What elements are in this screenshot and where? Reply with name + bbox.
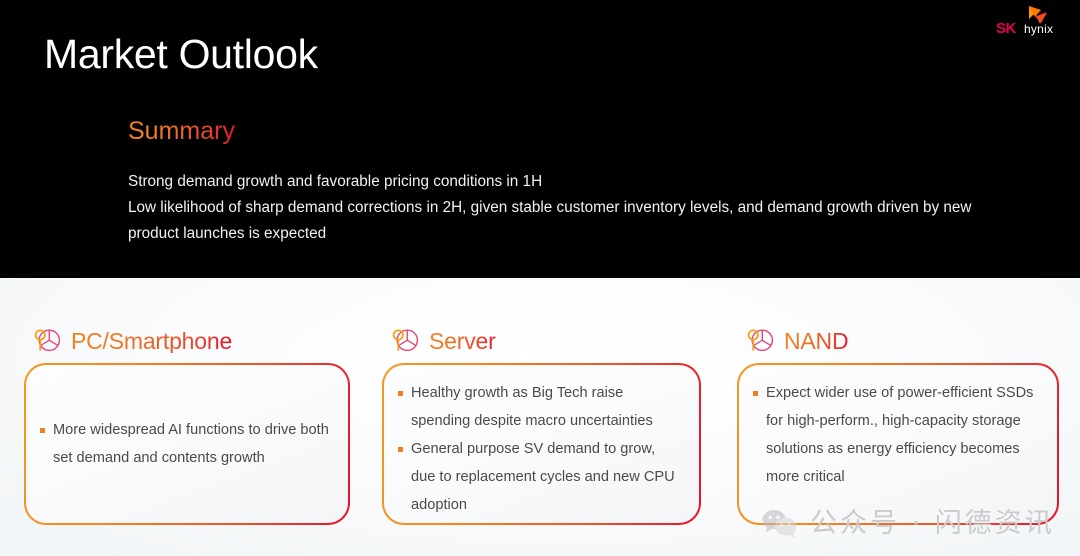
card-body-box: More widespread AI functions to drive bo… <box>24 363 350 525</box>
summary-line-2: Low likelihood of sharp demand correctio… <box>128 195 1008 247</box>
list-item: General purpose SV demand to grow, due t… <box>398 435 683 519</box>
sk-hynix-logo: SK hynix <box>994 4 1066 38</box>
slide: SK hynix Market Outlook Summary Strong d… <box>0 0 1080 556</box>
card-body: Healthy growth as Big Tech raise spendin… <box>384 365 699 523</box>
card-header: Server <box>390 324 496 358</box>
hero-band: SK hynix Market Outlook Summary Strong d… <box>0 0 1080 278</box>
bullet-list: More widespread AI functions to drive bo… <box>40 416 332 472</box>
list-item: Expect wider use of power-efficient SSDs… <box>753 379 1041 491</box>
summary-body: Strong demand growth and favorable prici… <box>128 169 1008 247</box>
card-header: NAND <box>745 324 848 358</box>
card-title: PC/Smartphone <box>71 330 232 353</box>
card-body: Expect wider use of power-efficient SSDs… <box>739 365 1057 523</box>
card-title: NAND <box>784 330 848 353</box>
svg-text:hynix: hynix <box>1024 22 1053 36</box>
summary-heading: Summary <box>128 117 235 146</box>
card-title: Server <box>429 330 496 353</box>
magnifier-pie-chart-icon <box>745 326 775 356</box>
magnifier-pie-chart-icon <box>32 326 62 356</box>
card-body-box: Healthy growth as Big Tech raise spendin… <box>382 363 701 525</box>
lower-band: PC/Smartphone More widespread AI functio… <box>0 278 1080 556</box>
card-header: PC/Smartphone <box>32 324 232 358</box>
card-body: More widespread AI functions to drive bo… <box>26 365 348 523</box>
bullet-list: Healthy growth as Big Tech raise spendin… <box>398 379 683 519</box>
svg-text:SK: SK <box>996 20 1017 37</box>
summary-line-1: Strong demand growth and favorable prici… <box>128 169 1008 195</box>
page-title: Market Outlook <box>44 32 318 77</box>
bullet-list: Expect wider use of power-efficient SSDs… <box>753 379 1041 491</box>
magnifier-pie-chart-icon <box>390 326 420 356</box>
cards-row: PC/Smartphone More widespread AI functio… <box>0 278 1080 556</box>
list-item: Healthy growth as Big Tech raise spendin… <box>398 379 683 435</box>
list-item: More widespread AI functions to drive bo… <box>40 416 332 472</box>
card-body-box: Expect wider use of power-efficient SSDs… <box>737 363 1059 525</box>
